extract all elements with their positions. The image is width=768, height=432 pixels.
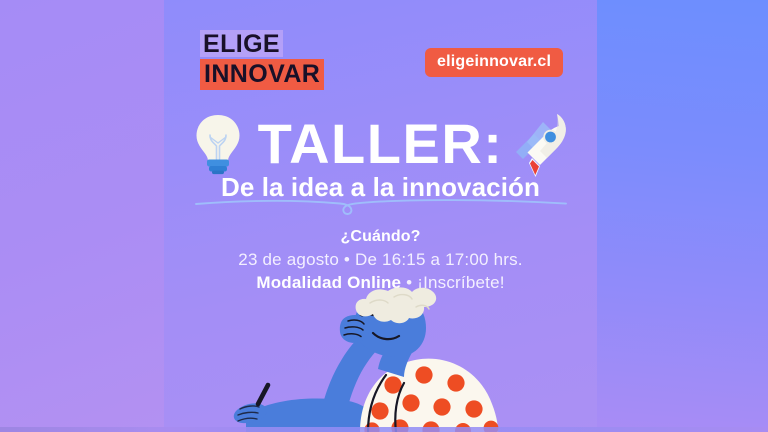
logo-line-innovar: INNOVAR — [200, 59, 324, 90]
website-url-badge[interactable]: eligeinnovar.cl — [425, 48, 563, 77]
info-datetime: 23 de agosto • De 16:15 a 17:00 hrs. — [164, 248, 597, 272]
brand-logo: ELIGE INNOVAR — [200, 30, 330, 90]
bottom-edge-band — [0, 427, 768, 432]
swoosh-underline-icon — [194, 196, 568, 218]
promo-poster: ELIGE INNOVAR eligeinnovar.cl — [0, 0, 768, 432]
info-question: ¿Cuándo? — [164, 226, 597, 248]
headline-block: TALLER: De la idea a la innovación — [164, 108, 597, 226]
poster-panel: ELIGE INNOVAR eligeinnovar.cl — [164, 0, 597, 432]
person-thinking-with-pen-illustration — [228, 287, 548, 432]
event-info: ¿Cuándo? 23 de agosto • De 16:15 a 17:00… — [164, 226, 597, 295]
backdrop-right-bar — [597, 0, 768, 432]
page-title: TALLER: — [164, 116, 597, 172]
backdrop-left-bar — [0, 0, 164, 432]
logo-line-elige: ELIGE — [200, 30, 283, 57]
